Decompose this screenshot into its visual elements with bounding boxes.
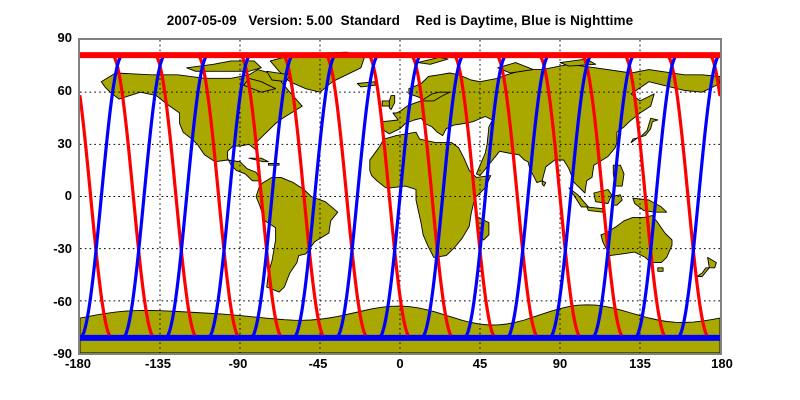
ytick-label: -60 [36, 295, 72, 309]
xtick-label: 45 [450, 357, 510, 371]
xtick-label: 90 [530, 357, 590, 371]
south-turn-band [80, 335, 720, 341]
xtick-label: -135 [128, 357, 188, 371]
ytick-label: 90 [36, 31, 72, 45]
xtick-label: 180 [692, 357, 752, 371]
xtick-label: 0 [370, 357, 430, 371]
map-svg [80, 40, 720, 353]
ytick-label: 30 [36, 137, 72, 151]
north-turn-band [80, 52, 720, 58]
ytick-label: 60 [36, 84, 72, 98]
xtick-label: -45 [288, 357, 348, 371]
xtick-label: -90 [208, 357, 268, 371]
plot-area [78, 38, 722, 355]
xtick-label: 135 [610, 357, 670, 371]
ground-track-map: 2007-05-09 Version: 5.00 Standard Red is… [0, 0, 800, 400]
ytick-label: -30 [36, 242, 72, 256]
ytick-label: 0 [36, 189, 72, 203]
plot-canvas [80, 40, 720, 353]
page-title: 2007-05-09 Version: 5.00 Standard Red is… [0, 13, 800, 28]
xtick-label: -180 [48, 357, 108, 371]
